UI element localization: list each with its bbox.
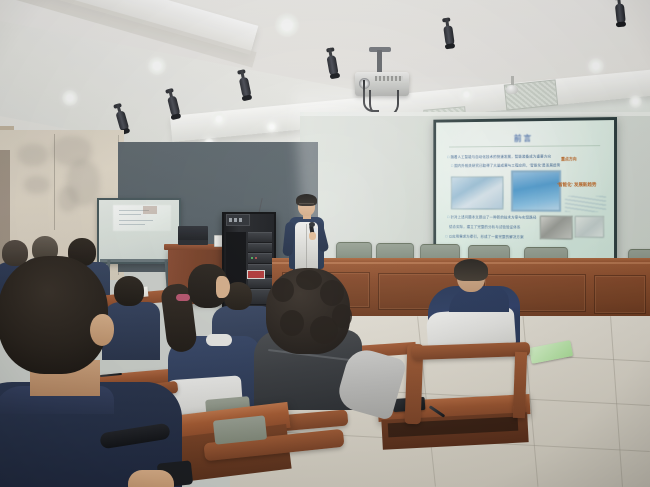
slide-callout-1: 重点方向 bbox=[561, 156, 577, 162]
slide-bullet-3: □ 针对上述问题本文提出了一种新的技术方案与实现路径 bbox=[447, 215, 536, 220]
attendee-right-hair bbox=[454, 259, 488, 281]
whiteboard-projection-spill bbox=[113, 205, 171, 231]
projection-screen: 前言 □ 随着人工智能与自动化技术的快速发展，智能装备成为重要方向 □ 国内外相… bbox=[433, 117, 617, 266]
eyeglasses-icon bbox=[299, 203, 314, 208]
downlight-8 bbox=[266, 121, 277, 132]
ceiling-projector bbox=[355, 72, 409, 106]
laptop-keyboard bbox=[178, 240, 208, 245]
presenter-vest-zipper bbox=[306, 224, 307, 268]
downlight-2 bbox=[275, 13, 299, 37]
slide-title: 前言 bbox=[436, 132, 614, 145]
downlight-7 bbox=[460, 88, 473, 101]
laptop-screen bbox=[178, 226, 208, 241]
conference-room-photo: 前言 □ 随着人工智能与自动化技术的快速发展，智能装备成为重要方向 □ 国内外相… bbox=[0, 0, 650, 487]
slide-image-display bbox=[511, 170, 561, 212]
downlight-6 bbox=[588, 58, 604, 74]
slide-callout-2: '智能化' 发展新趋势 bbox=[557, 182, 596, 188]
slide-bullet-1: □ 随着人工智能与自动化技术的快速发展，智能装备成为重要方向 bbox=[447, 154, 551, 160]
downlight-4 bbox=[212, 112, 226, 126]
chair-right-leg bbox=[513, 352, 527, 418]
downlight-1 bbox=[148, 57, 166, 75]
downlight-11 bbox=[629, 95, 642, 108]
downlight-3 bbox=[62, 90, 78, 106]
slide-image-machine bbox=[540, 216, 573, 240]
rack-top-amplifier bbox=[226, 214, 250, 226]
attendee-foreground-head bbox=[0, 256, 108, 374]
sprinkler-head-icon bbox=[506, 85, 518, 94]
attendee-ponytail-face bbox=[216, 276, 230, 298]
attendee-foreground-hand bbox=[128, 470, 174, 487]
attendee-foreground-left bbox=[0, 256, 182, 487]
rack-unit-2 bbox=[248, 243, 272, 253]
projector-mount-pole bbox=[377, 50, 382, 74]
slide-bullet-2: □ 国内外相关研究已取得了大量成果与工程应用，'智能化'是发展趋势 bbox=[451, 163, 561, 168]
presenter-hand bbox=[309, 232, 316, 240]
whiteboard-surface bbox=[99, 200, 179, 262]
projector-cable-secondary bbox=[363, 80, 379, 112]
slide-sketch-lines bbox=[565, 196, 606, 212]
rack-unit-1 bbox=[248, 232, 272, 243]
slide-bullet-4: 结合实际，建立了完整的分析与试验验证体系 bbox=[449, 225, 520, 230]
slide-image-diagram bbox=[575, 216, 604, 238]
slide-bullet-5: □ 以应用需求为牵引，形成了一套完整的解决方案 bbox=[445, 234, 523, 240]
projector-vent bbox=[375, 76, 403, 81]
slide-image-vehicle bbox=[451, 176, 504, 209]
attendee-center-foreground bbox=[248, 268, 396, 418]
attendee-foreground-ear bbox=[90, 314, 114, 346]
attendee-ponytail-collar bbox=[206, 334, 232, 346]
microphone-head-icon bbox=[309, 222, 315, 227]
projection-screen-surface: 前言 □ 随着人工智能与自动化技术的快速发展，智能装备成为重要方向 □ 国内外相… bbox=[436, 120, 614, 263]
attendee-center-hair bbox=[266, 268, 350, 354]
